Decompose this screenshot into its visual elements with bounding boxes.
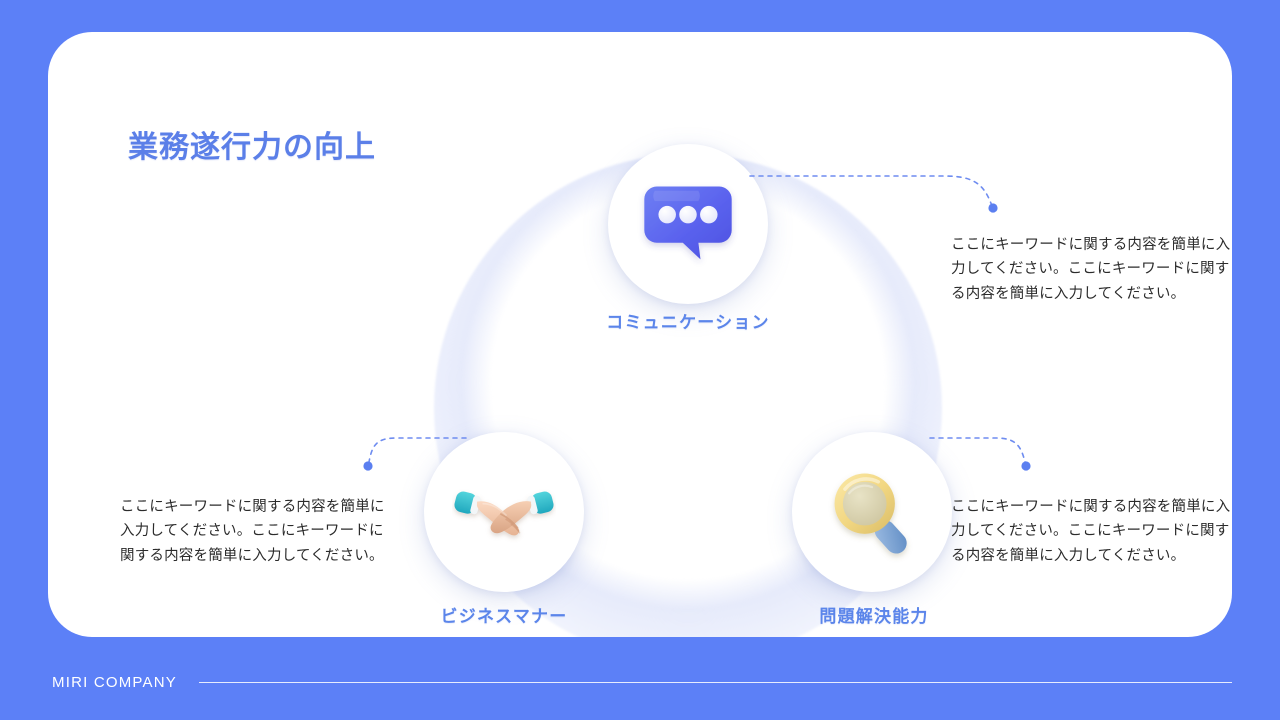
speech-bubble-icon — [636, 172, 740, 276]
footer-brand: MIRI COMPANY — [52, 674, 177, 691]
node-communication[interactable] — [608, 144, 768, 304]
footer-divider — [199, 682, 1232, 683]
page-title: 業務遂行力の向上 — [128, 122, 376, 166]
connector-business-manner — [358, 432, 468, 482]
slide-root: 業務遂行力の向上 — [0, 0, 1280, 720]
connector-communication — [748, 162, 998, 222]
node-label-problem-solving: 問題解決能力 — [776, 602, 972, 627]
description-business-manner: ここにキーワードに関する内容を簡単に入力してください。ここにキーワードに関する内… — [120, 495, 398, 570]
node-label-communication: コミュニケーション — [590, 308, 786, 333]
description-communication: ここにキーワードに関する内容を簡単に入力してください。ここにキーワードに関する内… — [951, 233, 1232, 308]
connector-problem-solving — [928, 432, 1038, 482]
magnifying-glass-icon — [820, 460, 924, 564]
node-label-business-manner: ビジネスマナー — [406, 602, 602, 627]
content-card: 業務遂行力の向上 — [48, 32, 1232, 637]
footer: MIRI COMPANY — [52, 668, 1232, 696]
description-problem-solving: ここにキーワードに関する内容を簡単に入力してください。ここにキーワードに関する内… — [951, 495, 1232, 570]
